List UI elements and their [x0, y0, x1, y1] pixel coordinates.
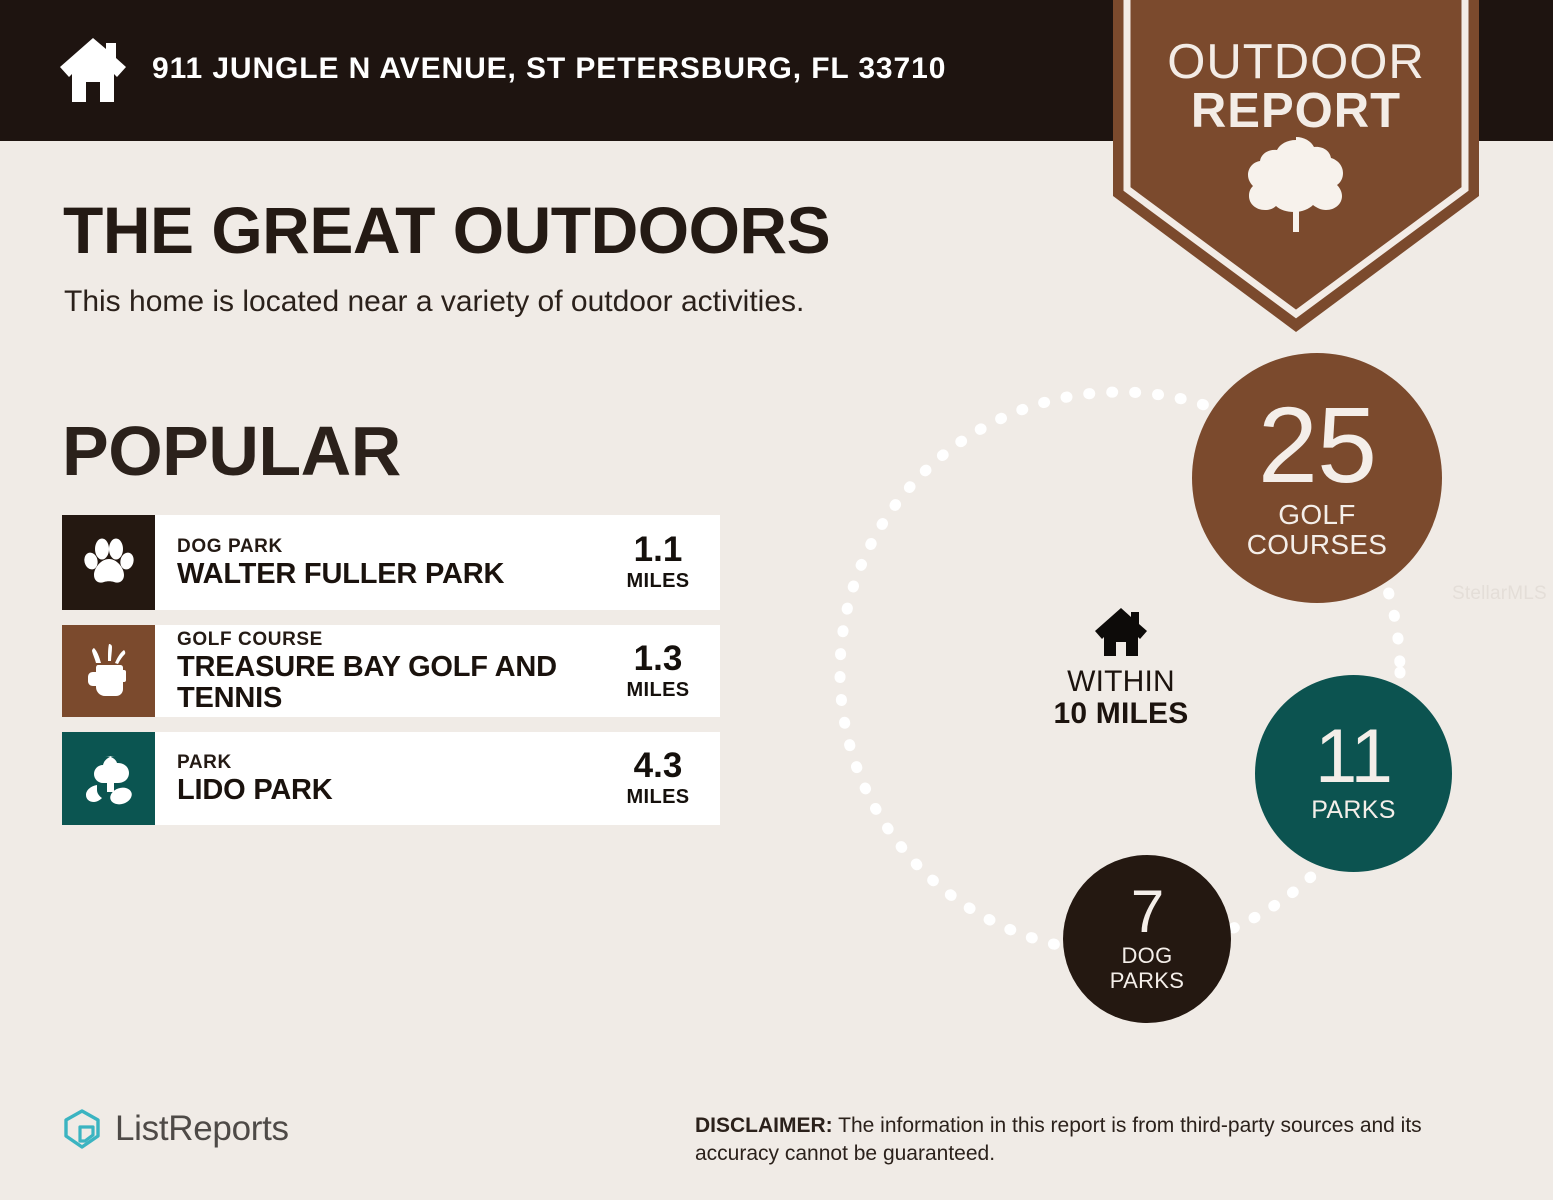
stat-value: 7	[1131, 885, 1163, 939]
stat-circle-parks[interactable]: 11 PARKS	[1255, 675, 1452, 872]
within-line-2: 10 MILES	[1028, 698, 1214, 730]
stat-circle-dog-parks[interactable]: 7 DOG PARKS	[1063, 855, 1231, 1023]
stat-label: GOLF COURSES	[1247, 500, 1388, 559]
stat-circle-golf-courses[interactable]: 25 GOLF COURSES	[1192, 353, 1442, 603]
outdoor-report-page: 911 JUNGLE N AVENUE, ST PETERSBURG, FL 3…	[0, 0, 1553, 1200]
within-line-1: WITHIN	[1028, 666, 1214, 698]
stat-value: 11	[1315, 723, 1392, 791]
stat-label: DOG PARKS	[1110, 944, 1184, 992]
home-icon	[1093, 606, 1149, 658]
stat-label-line1: DOG	[1121, 943, 1172, 968]
stat-label-line2: COURSES	[1247, 529, 1388, 560]
stat-value: 25	[1258, 397, 1376, 492]
watermark: StellarMLS	[1452, 583, 1547, 605]
stat-label-line2: PARKS	[1110, 968, 1184, 993]
stat-label-line1: GOLF	[1278, 499, 1355, 530]
badge-shape	[1113, 0, 1479, 332]
within-radius-block: WITHIN 10 MILES	[1028, 606, 1214, 729]
outdoor-report-badge: OUTDOOR REPORT	[1113, 0, 1479, 332]
stat-label: PARKS	[1311, 797, 1395, 824]
